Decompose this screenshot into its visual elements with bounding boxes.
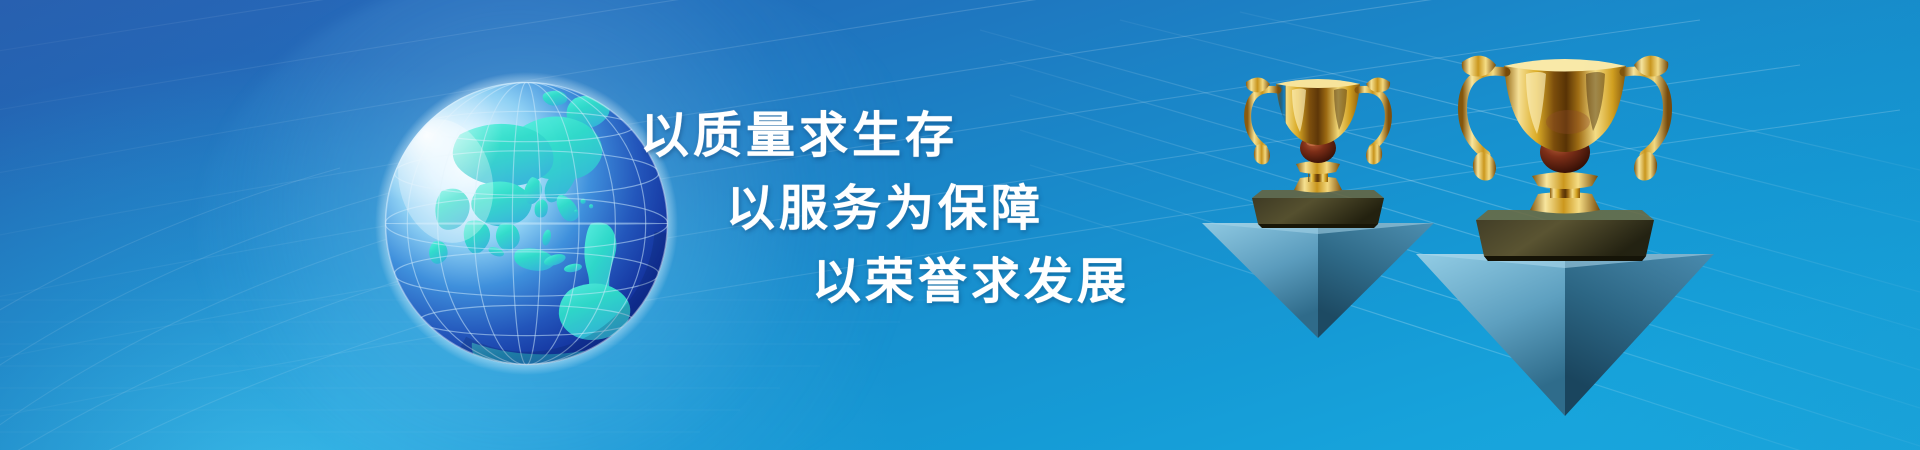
trophy-base-block-large <box>1476 210 1654 261</box>
slogan-line-2: 以服务为保障 <box>726 185 1260 234</box>
globe-icon <box>375 72 678 375</box>
slogan-block: 以质量求生存 以服务为保障 以荣誉求发展 <box>640 112 1260 307</box>
slogan-line-3: 以荣誉求发展 <box>812 258 1260 307</box>
inverted-pyramid-pedestal-large <box>1416 254 1714 416</box>
promo-banner: 以质量求生存 以服务为保障 以荣誉求发展 <box>0 0 1920 450</box>
trophy-icon-large <box>1400 18 1730 418</box>
trophy-base-block-small <box>1252 190 1384 228</box>
slogan-line-1: 以质量求生存 <box>640 112 1260 161</box>
